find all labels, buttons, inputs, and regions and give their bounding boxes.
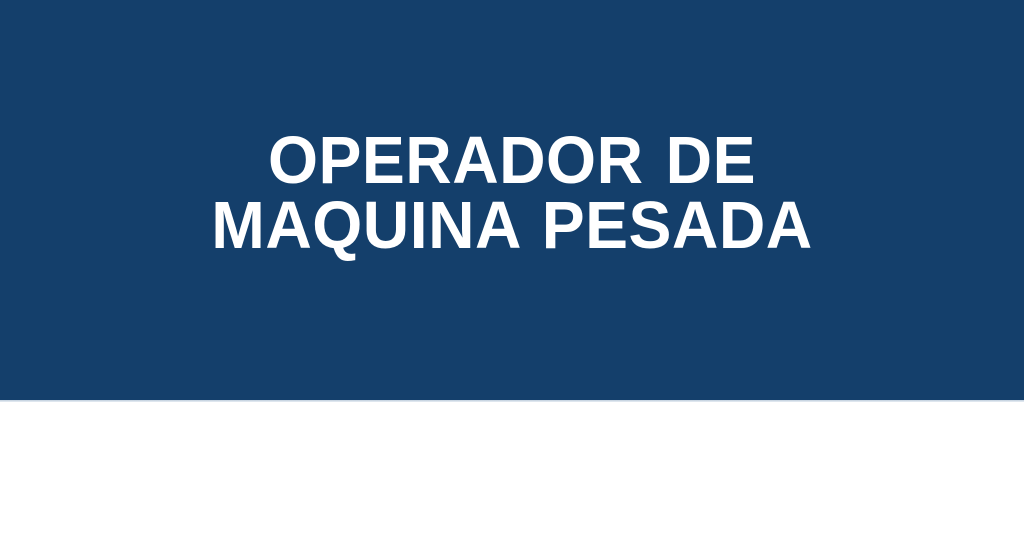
page-title: OPERADOR DE MAQUINA PESADA: [55, 128, 969, 258]
footer-bar: Enviar Currículo: [0, 402, 1024, 536]
hero-banner: OPERADOR DE MAQUINA PESADA: [0, 0, 1024, 400]
job-posting-card: OPERADOR DE MAQUINA PESADA Enviar Curríc…: [0, 0, 1024, 536]
hero-content: OPERADOR DE MAQUINA PESADA: [36, 128, 988, 258]
